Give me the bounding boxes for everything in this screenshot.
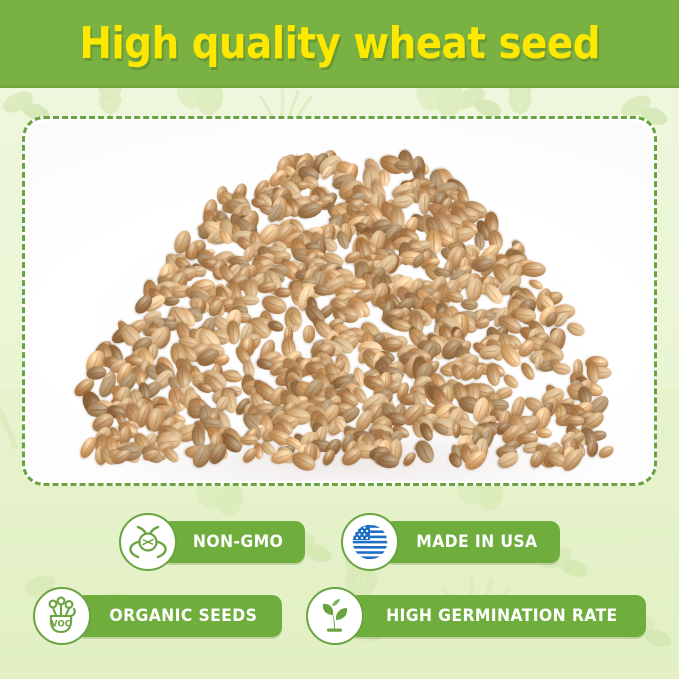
badge-non-gmo[interactable]: NON-GMO [119, 513, 305, 571]
badge-pill-made-in-usa: MADE IN USA [383, 521, 561, 563]
product-photo [27, 121, 652, 481]
badge-organic-seeds[interactable]: VOC ORGANIC SEEDS [33, 587, 282, 645]
badge-made-in-usa[interactable]: MADE IN USA [341, 513, 561, 571]
usa-flag-icon [341, 513, 399, 571]
sprout-seedling-icon [306, 587, 364, 645]
badge-label-high-germination-rate: HIGH GERMINATION RATE [386, 608, 618, 625]
voc-label: VOC [51, 620, 71, 630]
badge-pill-high-germination-rate: HIGH GERMINATION RATE [348, 595, 646, 637]
badge-high-germination-rate[interactable]: HIGH GERMINATION RATE [306, 587, 646, 645]
product-photo-frame [22, 116, 657, 486]
badge-row-1: NON-GMO [0, 513, 679, 571]
badge-pill-non-gmo: NON-GMO [161, 521, 305, 563]
voc-seed-pouch-icon: VOC [33, 587, 91, 645]
wheat-seed-pile [27, 121, 652, 481]
feature-badges: NON-GMO [0, 505, 679, 679]
product-infographic: High quality wheat seed [0, 0, 679, 679]
badge-pill-organic-seeds: ORGANIC SEEDS [75, 595, 282, 637]
badge-row-2: VOC ORGANIC SEEDS [0, 587, 679, 645]
badge-label-organic-seeds: ORGANIC SEEDS [110, 608, 258, 625]
dna-helix-icon [119, 513, 177, 571]
badge-label-non-gmo: NON-GMO [192, 534, 282, 551]
badge-label-made-in-usa: MADE IN USA [416, 534, 537, 551]
page-title: High quality wheat seed [79, 22, 600, 66]
header-banner: High quality wheat seed [0, 0, 679, 88]
